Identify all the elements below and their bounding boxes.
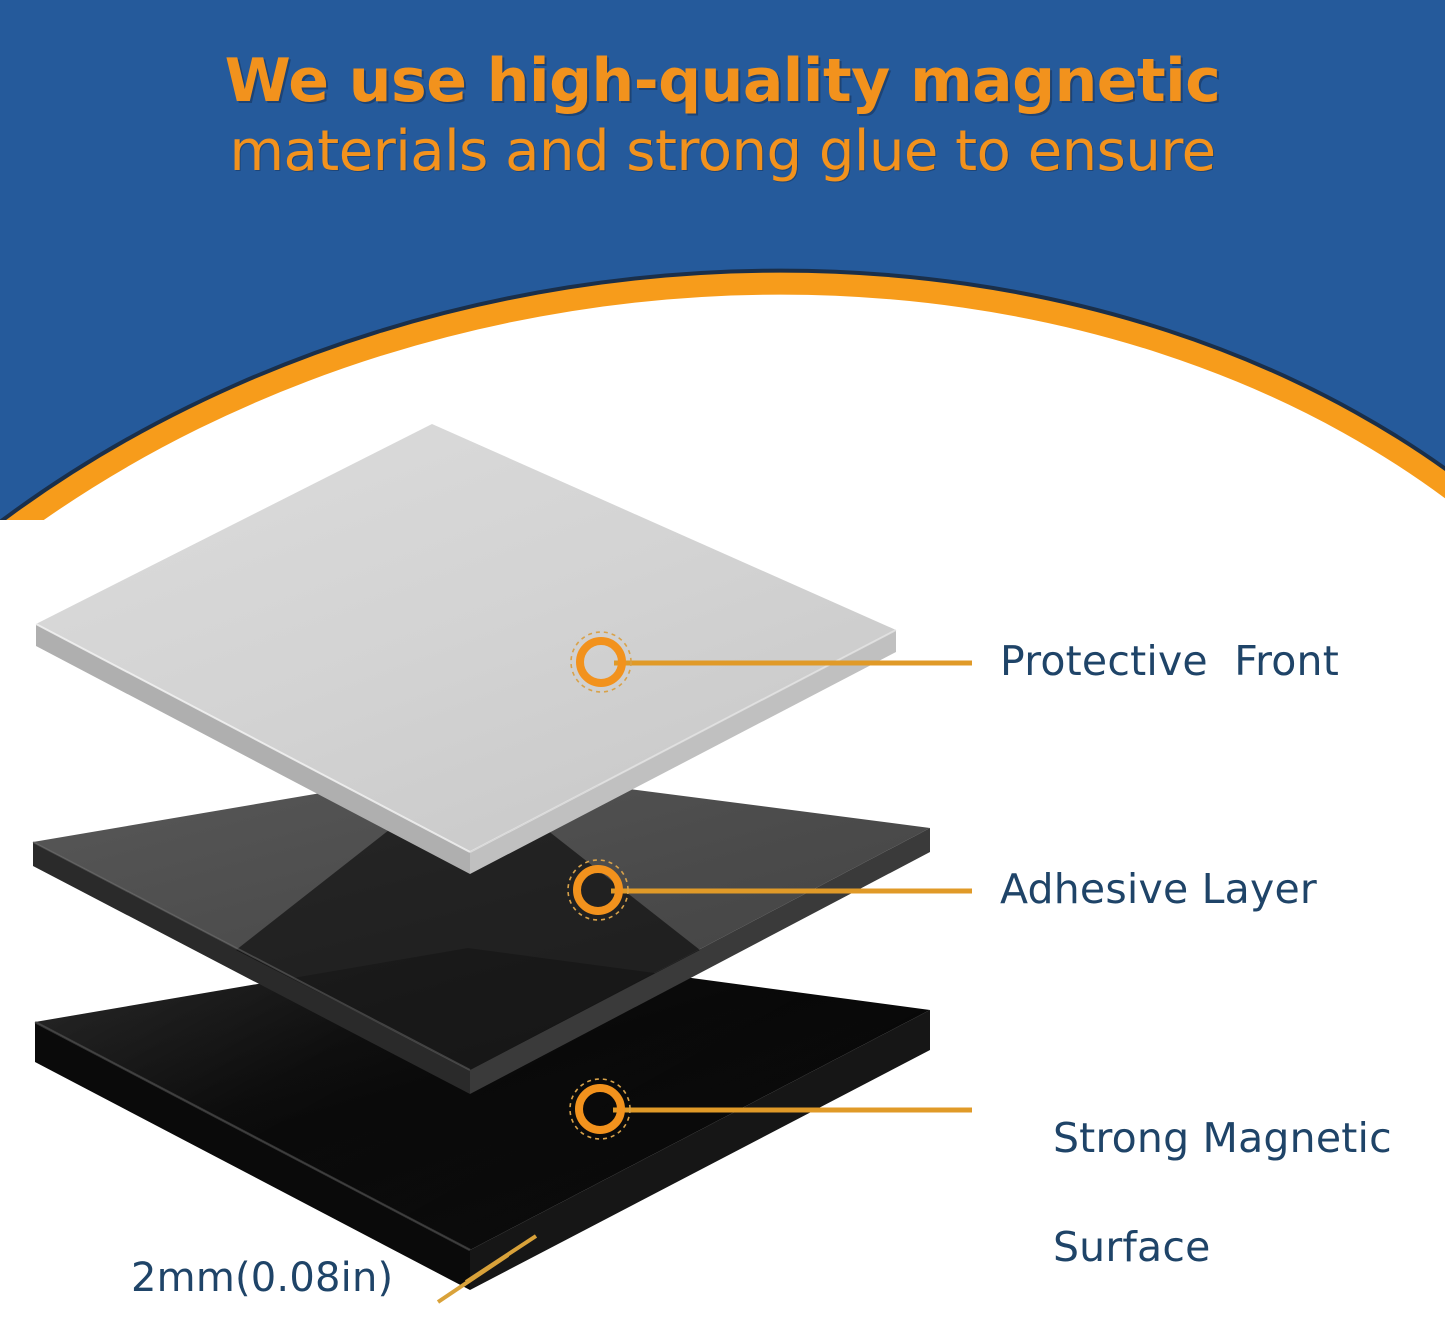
dimension-label: 2mm(0.08in) bbox=[131, 1255, 393, 1301]
callout-label-magnetic-line-1: Strong Magnetic bbox=[1053, 1114, 1392, 1162]
infographic-page: We use high-quality magnetic materials a… bbox=[0, 0, 1445, 1318]
callout-label-protective-front: Protective Front bbox=[1000, 634, 1339, 689]
callout-label-magnetic-line-2: Surface bbox=[1053, 1223, 1211, 1271]
layer-protective-front bbox=[36, 424, 896, 874]
callout-label-strong-magnetic-surface: Strong Magnetic Surface bbox=[1000, 1056, 1392, 1318]
callout-label-adhesive-layer: Adhesive Layer bbox=[1000, 862, 1317, 917]
protective-top-face bbox=[36, 424, 896, 852]
